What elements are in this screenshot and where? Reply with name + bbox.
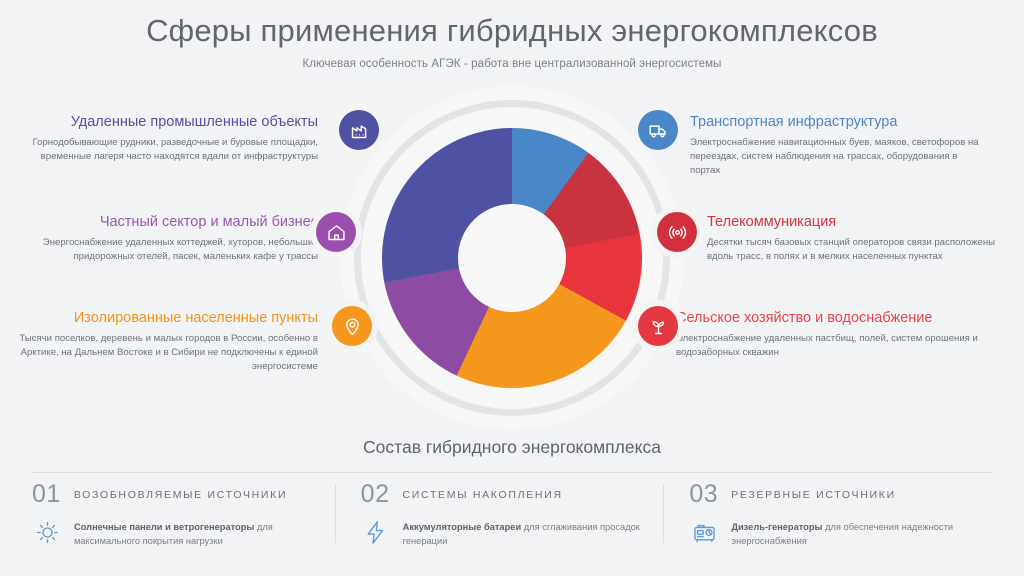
composition-column-1: 01 ВОЗОБНОВЛЯЕМЫЕ ИСТОЧНИКИ Солнечные па… xyxy=(32,480,335,549)
page-subtitle: Ключевая особенность АГЭК - работа вне ц… xyxy=(0,58,1024,70)
donut-hole xyxy=(458,204,566,312)
page-title: Сферы применения гибридных энергокомплек… xyxy=(0,12,1024,49)
badge-private-sector[interactable] xyxy=(316,212,356,252)
column-text-bold: Солнечные панели и ветрогенераторы xyxy=(74,522,254,532)
signal-icon xyxy=(667,222,688,243)
column-body: Дизель-генераторы для обеспечения надежн… xyxy=(689,518,970,549)
column-header: 03 РЕЗЕРВНЫЕ ИСТОЧНИКИ xyxy=(689,480,970,509)
column-label: ВОЗОБНОВЛЯЕМЫЕ ИСТОЧНИКИ xyxy=(74,489,287,501)
block-title: Транспортная инфраструктура xyxy=(690,113,990,131)
badge-isolated-settlements[interactable] xyxy=(332,306,372,346)
column-body: Аккумуляторные батареи для сглаживания п… xyxy=(361,518,642,549)
block-isolated-settlements: Изолированные населенные пункты Тысячи п… xyxy=(10,309,318,374)
column-text-bold: Дизель-генераторы xyxy=(731,522,822,532)
composition-column-2: 02 СИСТЕМЫ НАКОПЛЕНИЯ Аккумуляторные бат… xyxy=(335,480,664,549)
generator-icon xyxy=(689,517,719,547)
block-body: Энергоснабжение удаленных коттеджей, хут… xyxy=(18,236,318,264)
truck-icon xyxy=(648,120,669,141)
badge-agriculture-water[interactable] xyxy=(638,306,678,346)
block-title: Сельское хозяйство и водоснабжение xyxy=(676,309,996,327)
column-label: РЕЗЕРВНЫЕ ИСТОЧНИКИ xyxy=(731,489,896,501)
column-text: Дизель-генераторы для обеспечения надежн… xyxy=(731,518,970,549)
block-transport-infrastructure: Транспортная инфраструктура Электроснабж… xyxy=(690,113,990,178)
column-header: 02 СИСТЕМЫ НАКОПЛЕНИЯ xyxy=(361,480,642,509)
column-number: 02 xyxy=(361,480,390,509)
column-body: Солнечные панели и ветрогенераторы для м… xyxy=(32,518,313,549)
sun-icon xyxy=(32,517,62,547)
block-body: Десятки тысяч базовых станций операторов… xyxy=(707,236,999,264)
map-pin-icon xyxy=(342,316,363,337)
infographic-stage: Сферы применения гибридных энергокомплек… xyxy=(0,0,1024,576)
block-body: Электроснабжение навигационных буев, мая… xyxy=(690,136,990,178)
block-title: Телекоммуникация xyxy=(707,213,999,231)
donut-ring xyxy=(382,128,642,388)
block-remote-industrial: Удаленные промышленные объекты Горнодобы… xyxy=(18,113,318,164)
factory-icon xyxy=(349,120,370,141)
block-title: Изолированные населенные пункты xyxy=(10,309,318,327)
block-private-sector: Частный сектор и малый бизнес Энергоснаб… xyxy=(18,213,318,264)
donut-chart xyxy=(332,92,692,432)
block-body: Тысячи поселков, деревень и малых городо… xyxy=(10,332,318,374)
column-number: 03 xyxy=(689,480,718,509)
sprout-icon xyxy=(648,316,669,337)
column-header: 01 ВОЗОБНОВЛЯЕМЫЕ ИСТОЧНИКИ xyxy=(32,480,313,509)
home-icon xyxy=(326,222,347,243)
header: Сферы применения гибридных энергокомплек… xyxy=(0,12,1024,70)
column-text-bold: Аккумуляторные батареи xyxy=(403,522,522,532)
bottom-section-title: Состав гибридного энергокомплекса xyxy=(0,437,1024,458)
block-telecommunication: Телекоммуникация Десятки тысяч базовых с… xyxy=(707,213,999,264)
badge-transport-infrastructure[interactable] xyxy=(638,110,678,150)
composition-column-3: 03 РЕЗЕРВНЫЕ ИСТОЧНИКИ Дизель-генератор xyxy=(663,480,992,549)
block-title: Частный сектор и малый бизнес xyxy=(18,213,318,231)
badge-telecommunication[interactable] xyxy=(657,212,697,252)
column-number: 01 xyxy=(32,480,61,509)
block-body: Горнодобывающие рудники, разведочные и б… xyxy=(18,136,318,164)
block-body: Электроснабжение удаленных пастбищ, поле… xyxy=(676,332,996,360)
block-agriculture-water: Сельское хозяйство и водоснабжение Элект… xyxy=(676,309,996,360)
block-title: Удаленные промышленные объекты xyxy=(18,113,318,131)
composition-columns: 01 ВОЗОБНОВЛЯЕМЫЕ ИСТОЧНИКИ Солнечные па… xyxy=(32,480,992,549)
lightning-bolt-icon xyxy=(361,517,391,547)
section-divider xyxy=(32,472,992,473)
column-text: Солнечные панели и ветрогенераторы для м… xyxy=(74,518,313,549)
column-text: Аккумуляторные батареи для сглаживания п… xyxy=(403,518,642,549)
column-label: СИСТЕМЫ НАКОПЛЕНИЯ xyxy=(402,489,562,501)
badge-remote-industrial[interactable] xyxy=(339,110,379,150)
